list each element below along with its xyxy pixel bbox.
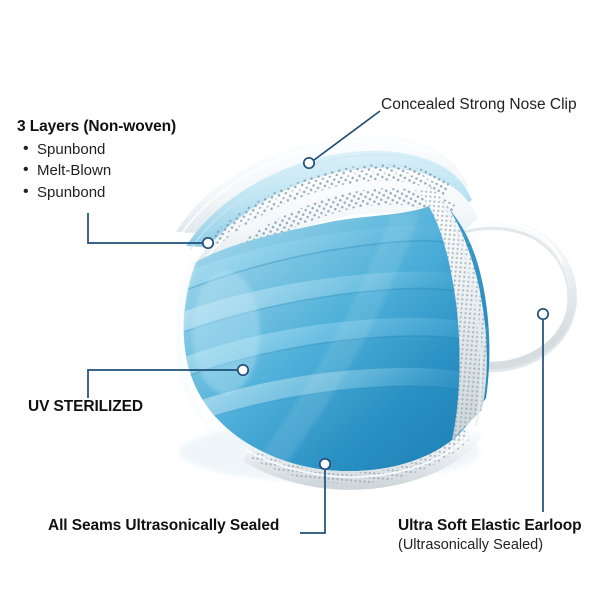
callout-earloop-title: Ultra Soft Elastic Earloop <box>398 517 581 535</box>
marker-earloop <box>538 309 548 319</box>
marker-nose-clip <box>304 158 314 168</box>
callout-earloop-subtitle: (Ultrasonically Sealed) <box>398 537 581 553</box>
layer-bullet-3: Spunbond <box>17 182 176 203</box>
callout-seams: All Seams Ultrasonically Sealed <box>48 517 279 535</box>
layer-bullet-2: Melt-Blown <box>17 160 176 181</box>
marker-uv <box>238 365 248 375</box>
layer-bullet-1: Spunbond <box>17 139 176 160</box>
callout-earloop: Ultra Soft Elastic Earloop (Ultrasonical… <box>398 517 581 553</box>
marker-seams <box>320 459 330 469</box>
callout-seams-title: All Seams Ultrasonically Sealed <box>48 517 279 535</box>
callout-nose-clip: Concealed Strong Nose Clip <box>381 96 577 114</box>
callout-uv: UV STERILIZED <box>28 398 143 416</box>
callout-nose-clip-title: Concealed Strong Nose Clip <box>381 96 577 114</box>
callout-layers: 3 Layers (Non-woven) Spunbond Melt-Blown… <box>17 118 176 203</box>
marker-layers <box>203 238 213 248</box>
callout-uv-title: UV STERILIZED <box>28 398 143 416</box>
callout-layers-bullets: Spunbond Melt-Blown Spunbond <box>17 139 176 203</box>
callout-layers-title: 3 Layers (Non-woven) <box>17 118 176 136</box>
surgical-mask-illustration <box>0 0 600 600</box>
infographic-canvas: 3 Layers (Non-woven) Spunbond Melt-Blown… <box>0 0 600 600</box>
